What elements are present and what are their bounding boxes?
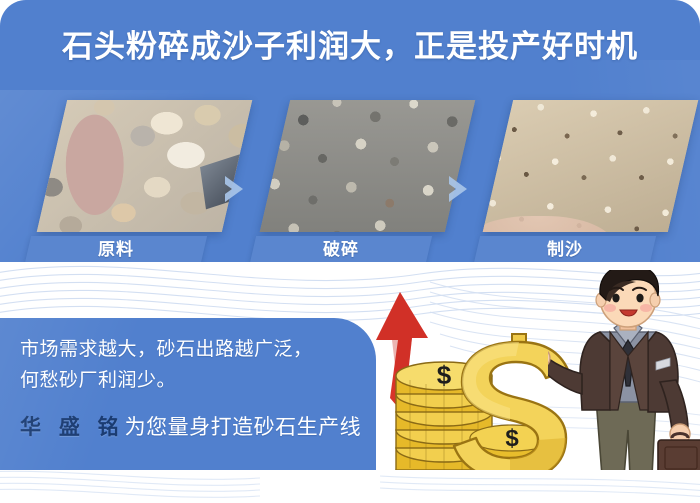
message-lead: 市场需求越大，砂石出路越广泛， 何愁砂厂利润少。: [20, 334, 366, 396]
process-label-text: 原料: [28, 236, 204, 263]
river-pebbles-photo: [37, 100, 252, 232]
bottom-strip: [0, 470, 700, 503]
process-panel-raw-material: [37, 100, 252, 232]
process-label-text: 破碎: [253, 236, 429, 263]
businessman-with-briefcase: [548, 270, 700, 503]
chevron-right-icon: [443, 172, 477, 206]
bottom-wave-strands: [0, 470, 700, 503]
process-panel-sand-making: [483, 100, 698, 232]
chevron-right-icon: [219, 172, 253, 206]
process-label-text: 制沙: [477, 236, 653, 263]
message-line-2: 何愁砂厂利润少。: [20, 365, 366, 396]
process-label-sand-making: 制沙: [474, 236, 656, 263]
promo-banner: 石头粉碎成沙子利润大，正是投产好时机 原料 破碎 制沙: [0, 0, 700, 503]
brand-name: 华 盛 铭: [20, 416, 125, 439]
svg-text:$: $: [437, 360, 452, 390]
process-label-raw-material: 原料: [25, 236, 207, 263]
crushed-gravel-photo: [260, 100, 475, 232]
message-panel: 市场需求越大，砂石出路越广泛， 何愁砂厂利润少。 华 盛 铭为您量身打造砂石生产…: [0, 318, 376, 470]
page-title: 石头粉碎成沙子利润大，正是投产好时机: [0, 26, 700, 68]
hand-palm: [483, 216, 614, 232]
svg-text:$: $: [505, 425, 519, 452]
message-line-1: 市场需求越大，砂石出路越广泛，: [20, 334, 366, 365]
process-panel-crushing: [260, 100, 475, 232]
brand-tagline: 为您量身打造砂石生产线: [125, 416, 362, 439]
process-label-crushing: 破碎: [250, 236, 432, 263]
brand-slogan: 华 盛 铭为您量身打造砂石生产线: [20, 412, 361, 444]
manufactured-sand-photo: [483, 100, 698, 232]
